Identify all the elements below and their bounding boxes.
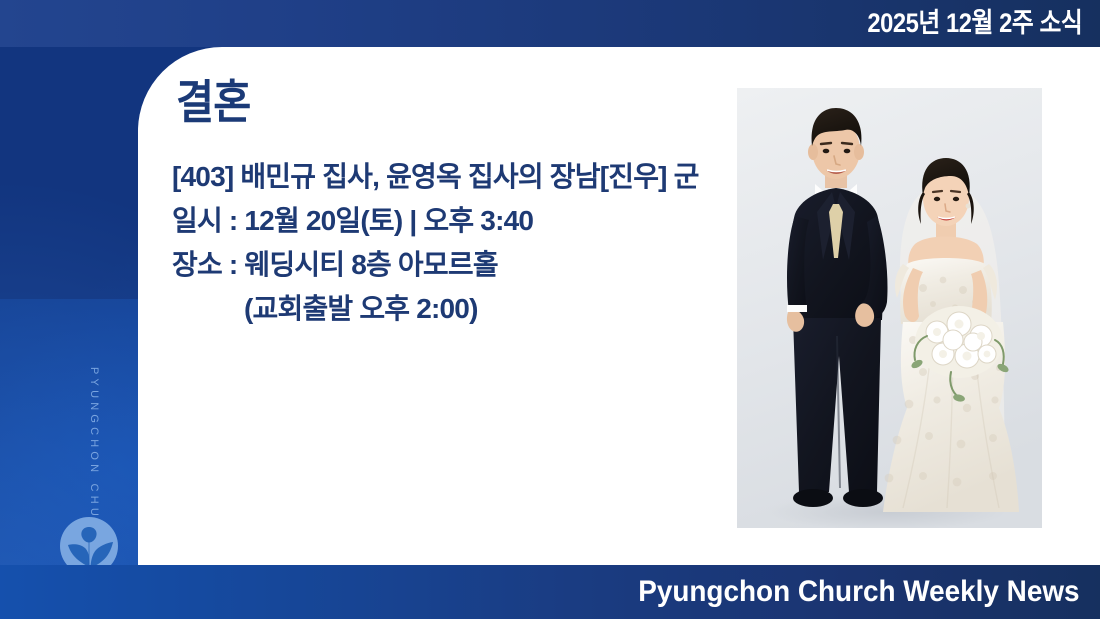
page-title: 결혼 [176,79,250,125]
announcement-line-family: [403] 배민규 집사, 윤영옥 집사의 장남[진우] 군 [172,155,752,199]
content-card: 결혼 [403] 배민규 집사, 윤영옥 집사의 장남[진우] 군 일시 : 1… [138,47,1100,565]
wedding-photo [737,88,1042,528]
footer-brand-label: Pyungchon Church Weekly News [639,577,1080,607]
left-rail: PYUNGCHON CHURCH [0,47,138,565]
header-date-label: 2025년 12월 2주 소식 [867,10,1082,37]
header-bar: 2025년 12월 2주 소식 [0,0,1100,47]
announcement-line-venue: 장소 : 웨딩시티 8층 아모르홀 [172,243,752,287]
announcement-line-datetime: 일시 : 12월 20일(토) | 오후 3:40 [172,199,752,243]
slide-root: 2025년 12월 2주 소식 PYUNGCHON CHURCH 결혼 [403… [0,0,1100,619]
announcement-body: [403] 배민규 집사, 윤영옥 집사의 장남[진우] 군 일시 : 12월 … [172,155,752,331]
announcement-line-departure: (교회출발 오후 2:00) [172,287,752,331]
footer-bar: Pyungchon Church Weekly News [0,565,1100,619]
